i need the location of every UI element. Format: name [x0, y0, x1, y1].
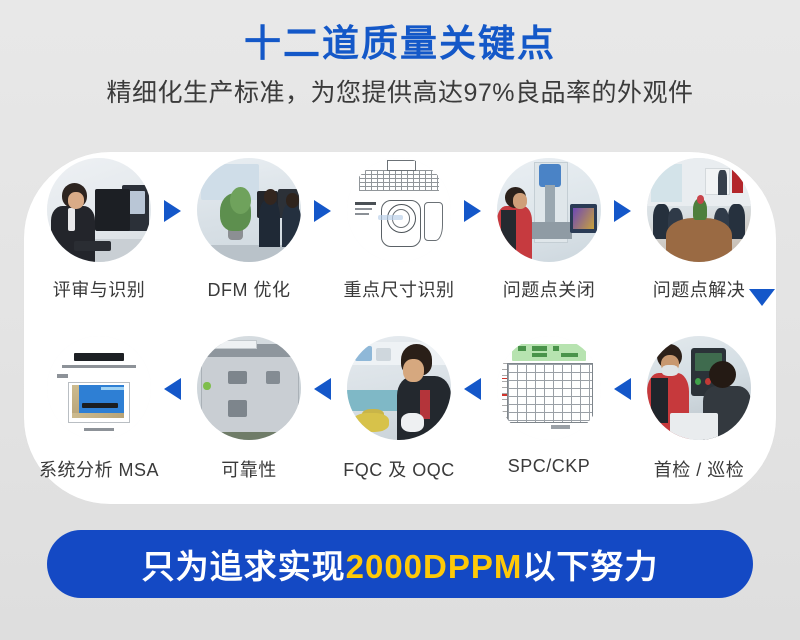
- flow-step-label: 问题点关闭: [503, 276, 596, 302]
- spc-control-chart-photo: [497, 336, 601, 440]
- arrow-left-icon: [164, 378, 181, 400]
- arrow-right-icon: [614, 200, 631, 222]
- flow-step-label: 问题点解决: [653, 276, 746, 302]
- arrow-left-icon: [314, 378, 331, 400]
- cad-drawing-photo: [347, 158, 451, 262]
- flow-step-msa[interactable]: 系统分析 MSA: [24, 330, 174, 500]
- flow-step-label: 评审与识别: [53, 276, 146, 302]
- reliability-test-chamber-photo: [197, 336, 301, 440]
- arrow-right-icon: [314, 200, 331, 222]
- page-subtitle: 精细化生产标准，为您提供高达97%良品率的外观件: [0, 77, 800, 109]
- flow-step-spc-ckp[interactable]: SPC/CKP: [474, 330, 624, 500]
- banner-text-before: 只为追求实现: [142, 548, 346, 585]
- flow-step-label: 系统分析 MSA: [39, 456, 159, 482]
- flow-step-issue-close[interactable]: 问题点关闭: [474, 156, 624, 326]
- arrow-left-icon: [464, 378, 481, 400]
- flow-step-label: FQC 及 OQC: [343, 456, 455, 482]
- measuring-machine-operator-photo: [497, 158, 601, 262]
- flow-step-reliability[interactable]: 可靠性: [174, 330, 324, 500]
- banner-accent-value: 2000DPPM: [346, 548, 523, 585]
- flow-step-first-patrol-inspection[interactable]: 首检 / 巡检: [624, 330, 774, 500]
- engineer-at-desk-photo: [47, 158, 151, 262]
- page-title: 十二道质量关键点: [0, 22, 800, 66]
- flow-bottom-row: 系统分析 MSA 可靠性 F: [24, 330, 776, 500]
- test-report-document-photo: [47, 336, 151, 440]
- flow-step-key-dimension[interactable]: 重点尺寸识别: [324, 156, 474, 326]
- flow-step-label: 重点尺寸识别: [344, 276, 455, 302]
- flow-step-fqc-oqc[interactable]: FQC 及 OQC: [324, 330, 474, 500]
- arrow-right-icon: [464, 200, 481, 222]
- banner-text-after: 以下努力: [522, 548, 658, 585]
- flow-step-label: DFM 优化: [208, 276, 291, 302]
- flow-step-review[interactable]: 评审与识别: [24, 156, 174, 326]
- flow-step-label: 可靠性: [221, 456, 277, 482]
- cnc-operators-photo: [647, 336, 751, 440]
- arrow-down-icon: [749, 289, 775, 306]
- flow-step-dfm[interactable]: DFM 优化: [174, 156, 324, 326]
- header: 十二道质量关键点 精细化生产标准，为您提供高达97%良品率的外观件: [0, 22, 800, 109]
- bottom-banner: 只为追求实现2000DPPM以下努力: [47, 530, 753, 598]
- arrow-right-icon: [164, 200, 181, 222]
- meeting-room-photo: [647, 158, 751, 262]
- office-team-computers-photo: [197, 158, 301, 262]
- infographic-page: 十二道质量关键点 精细化生产标准，为您提供高达97%良品率的外观件 评审与识别: [0, 0, 800, 640]
- arrow-left-icon: [614, 378, 631, 400]
- banner-text: 只为追求实现2000DPPM以下努力: [142, 540, 659, 588]
- flow-step-label: 首检 / 巡检: [654, 456, 745, 482]
- flow-top-row: 评审与识别 DFM 优化: [24, 156, 776, 326]
- flow-step-label: SPC/CKP: [508, 456, 591, 477]
- inspector-checking-parts-photo: [347, 336, 451, 440]
